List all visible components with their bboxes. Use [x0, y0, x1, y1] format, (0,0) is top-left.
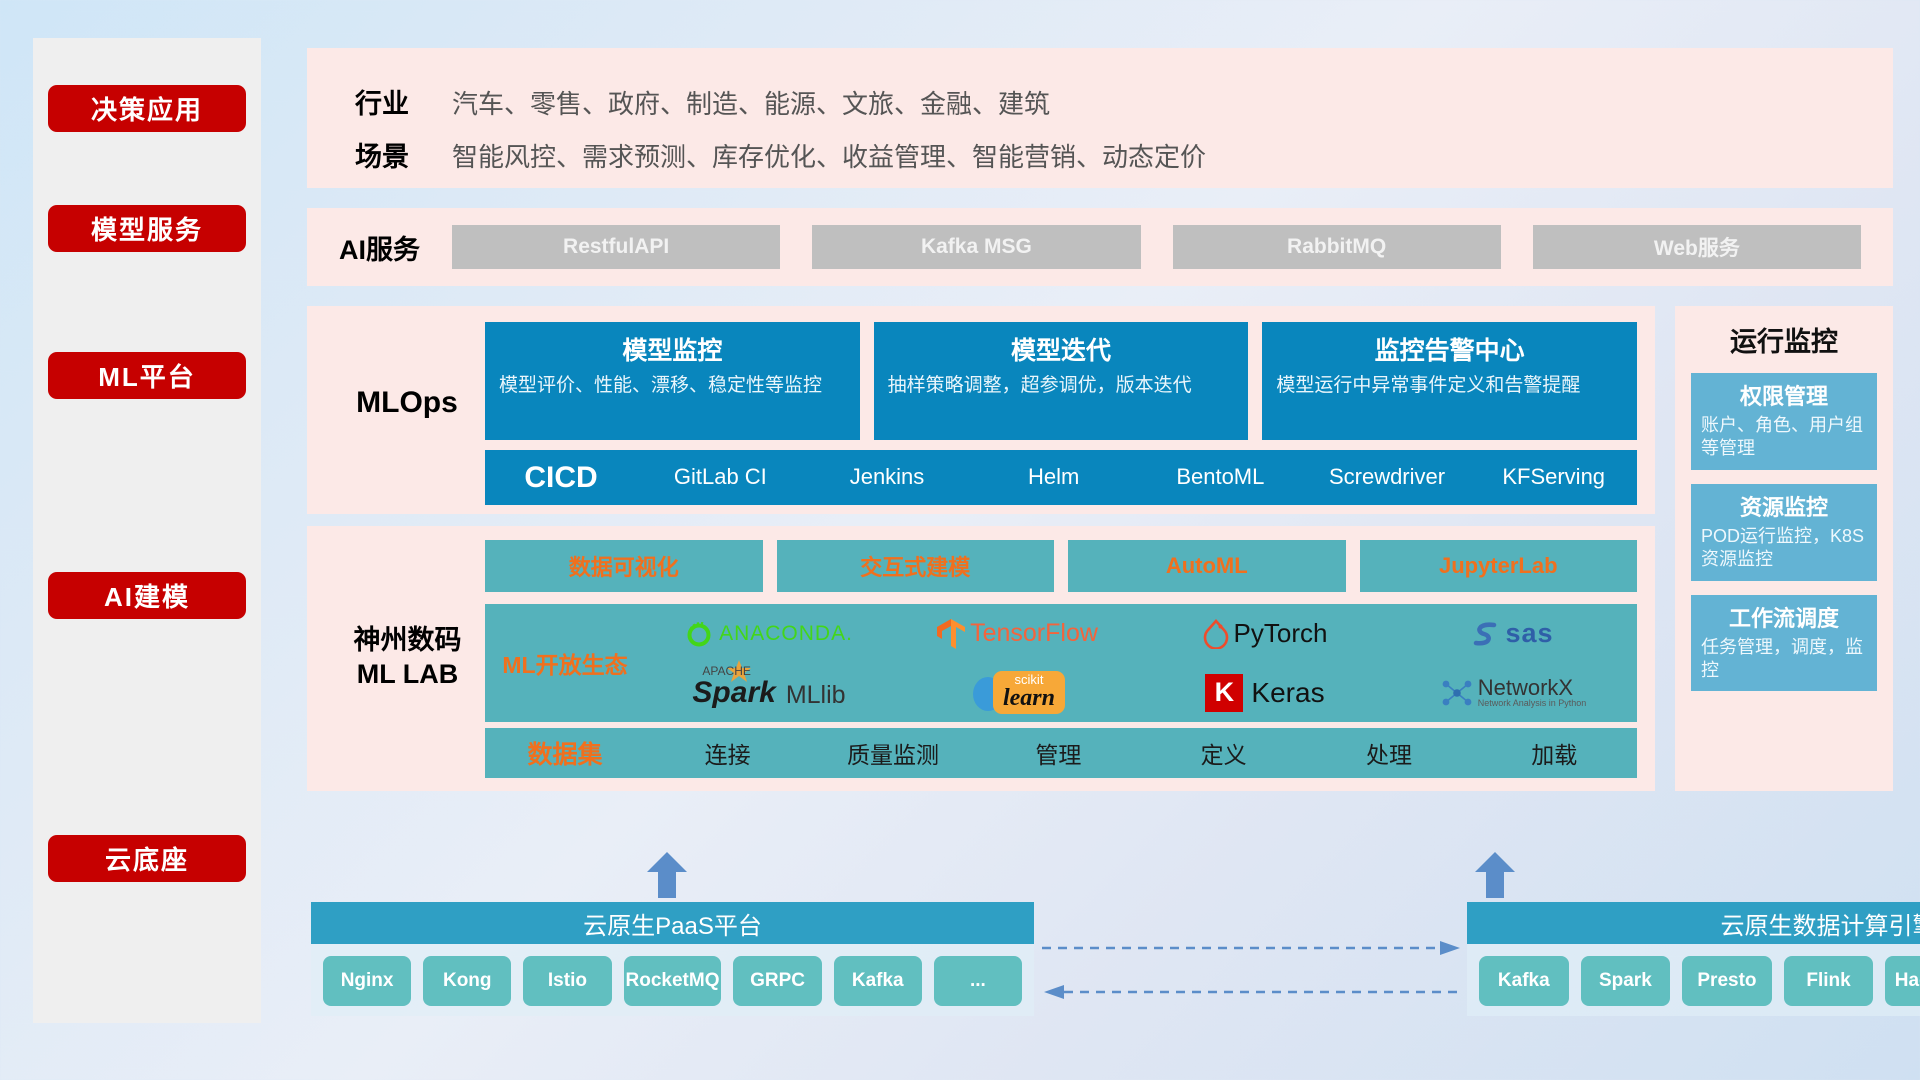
dataset-item-manage[interactable]: 管理 — [976, 736, 1141, 770]
dataset-title: 数据集 — [485, 735, 645, 771]
learn-text: learn — [1003, 686, 1055, 710]
stack-layer-rail: 决策应用 模型服务 ML平台 AI建模 云底座 — [33, 38, 261, 1023]
cloud-native-paas-block: 云原生PaaS平台 Nginx Kong Istio RocketMQ GRPC… — [311, 902, 1034, 1016]
ml-lab-label: 神州数码 ML LAB — [325, 624, 490, 692]
cloud-native-data-engine-block: 云原生数据计算引擎 Kafka Spark Presto Flink Hadoo… — [1467, 902, 1920, 1016]
ml-open-ecosystem-box: ML开放生态 ANACONDA. TensorFlow PyTorch — [485, 604, 1637, 722]
cicd-item-jenkins[interactable]: Jenkins — [804, 465, 971, 491]
monitor-card-permission[interactable]: 权限管理 账户、角色、用户组等管理 — [1691, 373, 1877, 470]
paas-chip-row: Nginx Kong Istio RocketMQ GRPC Kafka ... — [311, 944, 1034, 1006]
spark-apache-text: APACHE — [702, 664, 750, 678]
runtime-monitoring-title: 运行监控 — [1675, 320, 1893, 359]
cicd-item-screwdriver[interactable]: Screwdriver — [1304, 465, 1471, 491]
cicd-item-helm[interactable]: Helm — [970, 465, 1137, 491]
data-engine-chip-row: Kafka Spark Presto Flink Hadoop Storm ..… — [1467, 944, 1920, 1006]
feature-pill-jupyterlab[interactable]: JupyterLab — [1360, 540, 1638, 592]
engine-chip-kafka[interactable]: Kafka — [1479, 956, 1569, 1006]
paas-chip-more[interactable]: ... — [934, 956, 1022, 1006]
card-desc: 抽样策略调整，超参调优，版本迭代 — [888, 373, 1235, 398]
mlops-card-model-iteration[interactable]: 模型迭代 抽样策略调整，超参调优，版本迭代 — [874, 322, 1249, 440]
industry-label: 行业 — [355, 82, 409, 121]
ecosystem-title: ML开放生态 — [485, 646, 645, 680]
pytorch-wordmark: PyTorch — [1234, 618, 1328, 649]
mllib-wordmark: MLlib — [786, 681, 846, 710]
card-desc: POD运行监控，K8S资源监控 — [1701, 525, 1867, 572]
rail-item-cloud-base[interactable]: 云底座 — [48, 835, 246, 882]
cicd-title: CICD — [485, 461, 637, 495]
card-desc: 任务管理，调度，监控 — [1701, 636, 1867, 683]
tensorflow-logo: TensorFlow — [936, 618, 1098, 650]
card-title: 模型监控 — [499, 331, 846, 367]
spark-mllib-logo: APACHE Spark MLlib — [692, 676, 845, 710]
dashed-arrow-right-icon — [1042, 940, 1462, 961]
runtime-monitoring-panel: 运行监控 权限管理 账户、角色、用户组等管理 资源监控 POD运行监控，K8S资… — [1675, 306, 1893, 791]
ml-lab-label-line1: 神州数码 — [354, 625, 462, 655]
sas-wordmark: sas — [1505, 618, 1553, 649]
sas-logo: sas — [1472, 618, 1553, 649]
anaconda-logo: ANACONDA. — [685, 620, 853, 648]
card-title: 资源监控 — [1701, 490, 1867, 522]
cicd-item-gitlab-ci[interactable]: GitLab CI — [637, 465, 804, 491]
card-title: 监控告警中心 — [1276, 331, 1623, 367]
ecosystem-logo-grid: ANACONDA. TensorFlow PyTorch sas — [645, 604, 1637, 722]
engine-chip-presto[interactable]: Presto — [1682, 956, 1772, 1006]
feature-pill-data-visualization[interactable]: 数据可视化 — [485, 540, 763, 592]
ml-lab-label-line2: ML LAB — [357, 659, 459, 689]
cicd-item-bentoml[interactable]: BentoML — [1137, 465, 1304, 491]
mlops-label: MLOps — [332, 386, 482, 420]
rail-item-decision-app[interactable]: 决策应用 — [48, 85, 246, 132]
mlops-card-alert-center[interactable]: 监控告警中心 模型运行中异常事件定义和告警提醒 — [1262, 322, 1637, 440]
mlops-band: MLOps 模型监控 模型评价、性能、漂移、稳定性等监控 模型迭代 抽样策略调整… — [307, 306, 1655, 514]
mlops-card-group: 模型监控 模型评价、性能、漂移、稳定性等监控 模型迭代 抽样策略调整，超参调优，… — [485, 322, 1637, 440]
pytorch-logo: PyTorch — [1203, 618, 1328, 649]
feature-pill-interactive-modeling[interactable]: 交互式建模 — [777, 540, 1055, 592]
cloud-native-paas-title: 云原生PaaS平台 — [311, 902, 1034, 944]
dataset-item-load[interactable]: 加载 — [1472, 736, 1637, 770]
networkx-tagline: Network Analysis in Python — [1478, 699, 1587, 709]
cicd-item-kfserving[interactable]: KFServing — [1470, 465, 1637, 491]
mlops-card-model-monitoring[interactable]: 模型监控 模型评价、性能、漂移、稳定性等监控 — [485, 322, 860, 440]
service-pill-kafka-msg[interactable]: Kafka MSG — [812, 225, 1140, 269]
dataset-item-connect[interactable]: 连接 — [645, 736, 810, 770]
monitor-card-workflow[interactable]: 工作流调度 任务管理，调度，监控 — [1691, 595, 1877, 692]
service-pill-restfulapi[interactable]: RestfulAPI — [452, 225, 780, 269]
ml-lab-feature-row: 数据可视化 交互式建模 AutoML JupyterLab — [485, 540, 1637, 592]
dataset-item-quality-monitoring[interactable]: 质量监测 — [810, 736, 975, 770]
anaconda-wordmark: ANACONDA. — [719, 622, 853, 646]
rail-item-model-service[interactable]: 模型服务 — [48, 205, 246, 252]
ml-lab-band: 神州数码 ML LAB 数据可视化 交互式建模 AutoML JupyterLa… — [307, 526, 1655, 791]
card-desc: 模型运行中异常事件定义和告警提醒 — [1276, 373, 1623, 398]
scikit-learn-logo: scikit learn — [969, 671, 1065, 714]
paas-chip-rocketmq[interactable]: RocketMQ — [624, 956, 722, 1006]
networkx-wordmark: NetworkX — [1478, 677, 1587, 699]
card-title: 模型迭代 — [888, 331, 1235, 367]
cloud-base-section: 云原生PaaS平台 Nginx Kong Istio RocketMQ GRPC… — [307, 880, 1893, 1030]
cloud-native-data-engine-title: 云原生数据计算引擎 — [1467, 902, 1920, 944]
paas-chip-istio[interactable]: Istio — [523, 956, 611, 1006]
scenario-label: 场景 — [355, 135, 409, 174]
ai-service-band: AI服务 RestfulAPI Kafka MSG RabbitMQ Web服务 — [307, 208, 1893, 286]
ai-service-label: AI服务 — [307, 228, 452, 267]
keras-logo: K Keras — [1205, 674, 1324, 712]
paas-chip-kong[interactable]: Kong — [423, 956, 511, 1006]
cicd-bar: CICD GitLab CI Jenkins Helm BentoML Scre… — [485, 450, 1637, 505]
engine-chip-spark[interactable]: Spark — [1581, 956, 1671, 1006]
rail-item-ai-modeling[interactable]: AI建模 — [48, 572, 246, 619]
tensorflow-wordmark: TensorFlow — [970, 619, 1098, 648]
card-desc: 模型评价、性能、漂移、稳定性等监控 — [499, 373, 846, 398]
dashed-arrow-left-icon — [1042, 984, 1462, 1005]
dataset-bar: 数据集 连接 质量监测 管理 定义 处理 加载 — [485, 728, 1637, 778]
service-pill-web-service[interactable]: Web服务 — [1533, 225, 1861, 269]
up-arrow-left-icon — [647, 852, 687, 892]
scenario-value: 智能风控、需求预测、库存优化、收益管理、智能营销、动态定价 — [452, 137, 1206, 174]
keras-k-glyph: K — [1215, 677, 1235, 708]
engine-chip-flink[interactable]: Flink — [1784, 956, 1874, 1006]
monitor-card-resource[interactable]: 资源监控 POD运行监控，K8S资源监控 — [1691, 484, 1877, 581]
dataset-item-process[interactable]: 处理 — [1306, 736, 1471, 770]
card-title: 权限管理 — [1701, 379, 1867, 411]
rail-item-ml-platform[interactable]: ML平台 — [48, 352, 246, 399]
dataset-item-define[interactable]: 定义 — [1141, 736, 1306, 770]
industry-value: 汽车、零售、政府、制造、能源、文旅、金融、建筑 — [452, 84, 1050, 121]
keras-wordmark: Keras — [1251, 677, 1324, 709]
engine-chip-hadoop[interactable]: Hadoop — [1885, 956, 1920, 1006]
paas-chip-grpc[interactable]: GRPC — [733, 956, 821, 1006]
paas-chip-nginx[interactable]: Nginx — [323, 956, 411, 1006]
card-desc: 账户、角色、用户组等管理 — [1701, 414, 1867, 461]
networkx-logo: NetworkX Network Analysis in Python — [1440, 677, 1587, 709]
service-pill-rabbitmq[interactable]: RabbitMQ — [1173, 225, 1501, 269]
paas-chip-kafka[interactable]: Kafka — [834, 956, 922, 1006]
decision-application-band: 行业 汽车、零售、政府、制造、能源、文旅、金融、建筑 场景 智能风控、需求预测、… — [307, 48, 1893, 188]
up-arrow-right-icon — [1475, 852, 1515, 892]
feature-pill-automl[interactable]: AutoML — [1068, 540, 1346, 592]
card-title: 工作流调度 — [1701, 601, 1867, 633]
